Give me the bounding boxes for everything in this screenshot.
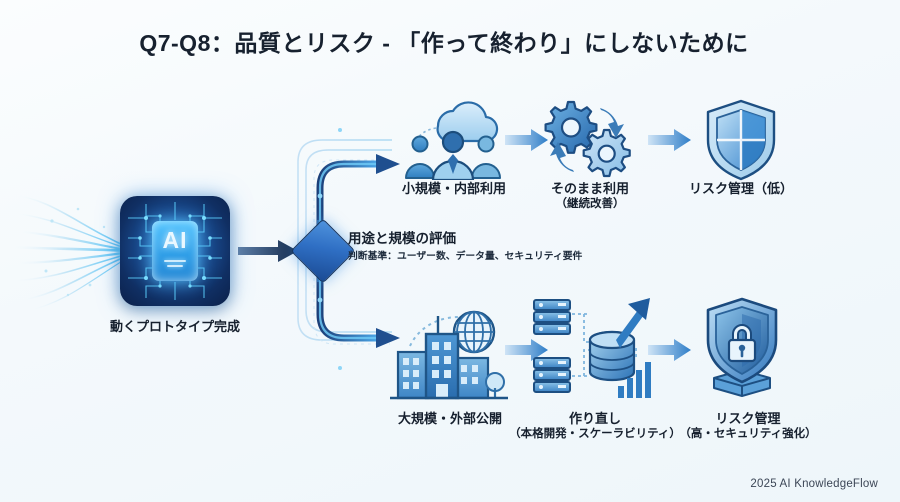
ai-chip-node: AI [120,196,230,306]
branch-top-step-2-label: そのまま利用 （継続改善） [525,180,655,212]
branch-bottom-step-2-label: 作り直し （本格開発・スケーラビリティ） [505,410,685,442]
ai-chip-icon: AI [120,196,230,306]
ai-badge: AI [152,221,198,281]
decision-node-label: 用途と規模の評価 判断基準：ユーザー数、データ量、セキュリティ要件 [348,231,582,264]
server-database-growth-icon [528,292,654,400]
diagram-canvas: Q7-Q8：品質とリスク - 「作って終わり」にしないために [0,0,900,502]
light-stream-decoration [8,185,138,317]
branch-top-step-3-label: リスク管理（低） [665,180,817,197]
office-buildings-globe-icon [388,304,510,404]
arrow-bottom-2 [648,338,692,362]
branch-bottom-step-3-label: リスク管理 （高・セキュリティ強化） [660,410,836,442]
shield-lock-icon [700,296,784,400]
footer-credit: 2025 AI KnowledgeFlow [750,478,878,490]
people-cloud-icon [396,96,512,180]
shield-icon [704,98,778,182]
page-title: Q7-Q8：品質とリスク - 「作って終わり」にしないために [0,24,894,58]
gears-cycle-icon [538,98,636,182]
arrow-top-2 [648,128,692,152]
start-node-label: 動くプロトタイプ完成 [60,318,290,335]
chip-bars-icon [164,258,186,270]
branch-top-step-1-label: 小規模・内部利用 [374,180,534,197]
